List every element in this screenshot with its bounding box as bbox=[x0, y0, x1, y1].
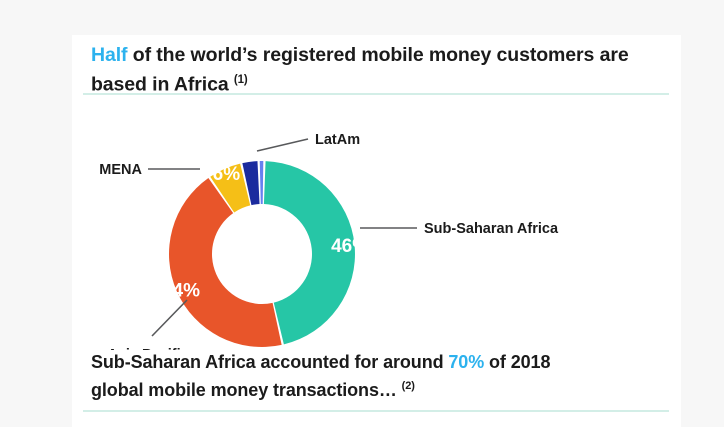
subtitle-line2: global mobile money transactions… bbox=[91, 380, 397, 400]
infographic-card: Half of the world’s registered mobile mo… bbox=[72, 35, 681, 427]
category-label-sub-saharan-africa: Sub-Saharan Africa bbox=[424, 221, 559, 237]
subtitle-highlight: 70% bbox=[448, 352, 484, 372]
slice-value-mena: 6% bbox=[213, 164, 241, 185]
slice-value-sub-saharan-africa: 46% bbox=[331, 236, 369, 257]
title-line1-rest: of the world’s registered mobile money c… bbox=[127, 44, 628, 66]
subtitle-before: Sub-Saharan Africa accounted for around bbox=[91, 352, 448, 372]
donut-chart-svg: 46% 44% 6% Sub-Saharan Africa MENA LatAm… bbox=[72, 95, 681, 350]
title-highlight: Half bbox=[91, 44, 127, 66]
title-footnote-marker: (1) bbox=[234, 74, 248, 86]
slice-value-asia-pacific: 44% bbox=[162, 281, 200, 302]
subtitle-after: of 2018 bbox=[484, 352, 550, 372]
page-title: Half of the world’s registered mobile mo… bbox=[91, 43, 671, 98]
category-label-latam: LatAm bbox=[315, 132, 360, 148]
donut-chart: 46% 44% 6% Sub-Saharan Africa MENA LatAm… bbox=[72, 95, 681, 350]
category-label-mena: MENA bbox=[99, 162, 142, 178]
leader-line-latam bbox=[257, 139, 308, 151]
page-subtitle: Sub-Saharan Africa accounted for around … bbox=[91, 350, 671, 402]
leader-line-asia-pacific bbox=[152, 300, 187, 336]
divider-bottom bbox=[83, 410, 669, 412]
donut-slice-other[interactable] bbox=[260, 161, 264, 204]
subtitle-footnote-marker: (2) bbox=[402, 380, 415, 392]
